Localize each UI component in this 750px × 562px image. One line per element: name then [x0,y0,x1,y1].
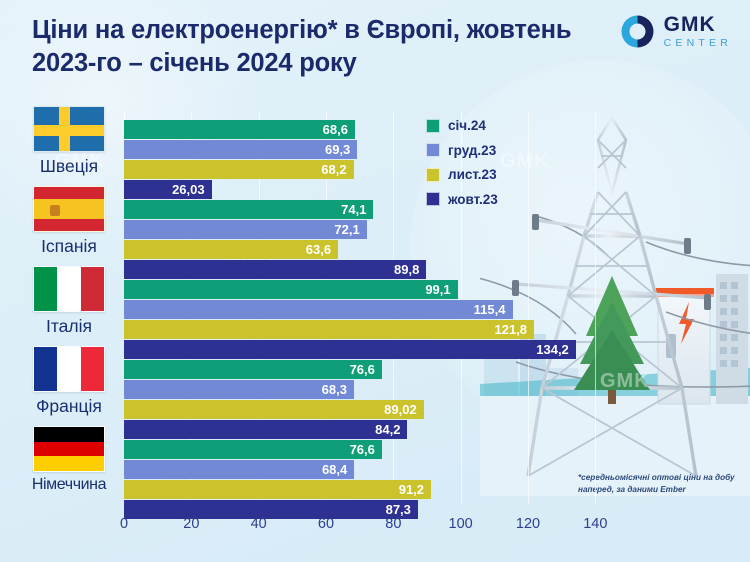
legend-swatch [426,119,440,133]
bar-row: 68,4 [124,460,629,479]
bar-Швеція-січ.24[interactable]: 68,6 [124,120,355,139]
bar-row: 74,1 [124,200,629,219]
bar-chart: 68,669,368,226,0374,172,163,689,899,1115… [0,104,750,544]
x-axis-tick-20: 20 [183,516,199,532]
bar-Іспанія-січ.24[interactable]: 74,1 [124,200,373,219]
bar-Швеція-груд.23[interactable]: 69,3 [124,140,357,159]
bar-row: 68,3 [124,380,629,399]
bar-row: 69,3 [124,140,629,159]
infographic-canvas: Ціни на електроенергію* в Європі, жовтен… [0,0,750,562]
bar-value-label: 89,8 [394,262,426,277]
bar-Франція-лист.23[interactable]: 89,02 [124,400,424,419]
x-axis-tick-120: 120 [516,516,540,532]
country-label: Італія [16,316,122,337]
bar-group-Німеччина: 76,668,491,287,3 [124,440,629,520]
x-axis-tick-140: 140 [583,516,607,532]
bar-value-label: 115,4 [474,302,513,317]
bar-Німеччина-груд.23[interactable]: 68,4 [124,460,354,479]
country-label: Франція [16,396,122,417]
bar-Німеччина-лист.23[interactable]: 91,2 [124,480,431,499]
bar-row: 99,1 [124,280,629,299]
bar-row: 89,02 [124,400,629,419]
bar-row: 26,03 [124,180,629,199]
bar-value-label: 87,3 [386,502,418,517]
bar-Італія-лист.23[interactable]: 121,8 [124,320,534,339]
bar-Швеція-лист.23[interactable]: 68,2 [124,160,354,179]
country-Німеччина: Німеччина [16,426,122,494]
logo-subtitle: CENTER [664,38,732,49]
bar-group-Франція: 76,668,389,0284,2 [124,360,629,440]
bar-value-label: 121,8 [495,322,535,337]
legend-label: лист.23 [448,167,497,182]
legend-swatch [426,143,440,157]
x-axis-tick-60: 60 [318,516,334,532]
bar-value-label: 74,1 [341,202,373,217]
bar-row: 68,2 [124,160,629,179]
bar-row: 121,8 [124,320,629,339]
legend-item-груд.23: груд.23 [426,143,498,158]
bar-row: 76,6 [124,360,629,379]
bar-value-label: 91,2 [399,482,431,497]
country-Швеція: Швеція [16,106,122,177]
country-Франція: Франція [16,346,122,417]
bar-group-Швеція: 68,669,368,226,03 [124,120,629,200]
bar-value-label: 68,6 [323,122,355,137]
bar-Франція-січ.24[interactable]: 76,6 [124,360,382,379]
chart-legend: січ.24груд.23лист.23жовт.23 [426,118,498,216]
bar-value-label: 76,6 [350,362,382,377]
bar-row: 72,1 [124,220,629,239]
legend-item-лист.23: лист.23 [426,167,498,182]
flag-spain-icon [33,186,105,232]
bar-row: 134,2 [124,340,629,359]
legend-label: січ.24 [448,118,486,133]
bar-row: 68,6 [124,120,629,139]
gmk-logo: GMK CENTER [620,14,732,49]
bar-value-label: 89,02 [384,402,424,417]
x-axis-tick-40: 40 [251,516,267,532]
country-label: Німеччина [16,476,122,494]
page-title: Ціни на електроенергію* в Європі, жовтен… [32,14,592,79]
bar-Швеція-жовт.23[interactable]: 26,03 [124,180,212,199]
bar-value-label: 84,2 [375,422,407,437]
bar-Іспанія-груд.23[interactable]: 72,1 [124,220,367,239]
bar-value-label: 63,6 [306,242,338,257]
bar-group-Італія: 99,1115,4121,8134,2 [124,280,629,360]
gmk-logo-text: GMK CENTER [664,14,732,49]
bar-row: 115,4 [124,300,629,319]
legend-item-січ.24: січ.24 [426,118,498,133]
country-label: Швеція [16,156,122,177]
x-axis-tick-0: 0 [120,516,128,532]
header: Ціни на електроенергію* в Європі, жовтен… [0,0,750,96]
bar-Німеччина-січ.24[interactable]: 76,6 [124,440,382,459]
bar-Італія-груд.23[interactable]: 115,4 [124,300,513,319]
bar-Франція-жовт.23[interactable]: 84,2 [124,420,407,439]
flag-italy-icon [33,266,105,312]
bar-row: 84,2 [124,420,629,439]
x-axis-tick-100: 100 [449,516,473,532]
bar-value-label: 68,2 [321,162,353,177]
bar-Іспанія-жовт.23[interactable]: 89,8 [124,260,426,279]
bar-value-label: 99,1 [425,282,457,297]
bar-value-label: 72,1 [334,222,366,237]
bar-value-label: 134,2 [536,342,576,357]
flag-germany-icon [33,426,105,472]
flag-france-icon [33,346,105,392]
bar-value-label: 68,3 [322,382,354,397]
bar-row: 63,6 [124,240,629,259]
legend-item-жовт.23: жовт.23 [426,192,498,207]
bar-row: 76,6 [124,440,629,459]
bar-group-Іспанія: 74,172,163,689,8 [124,200,629,280]
logo-name: GMK [664,14,732,35]
country-Іспанія: Іспанія [16,186,122,257]
plot-area: 68,669,368,226,0374,172,163,689,899,1115… [124,112,629,522]
legend-swatch [426,168,440,182]
bar-value-label: 26,03 [172,182,212,197]
x-axis-tick-80: 80 [385,516,401,532]
legend-label: груд.23 [448,143,496,158]
bar-row: 91,2 [124,480,629,499]
bar-value-label: 76,6 [350,442,382,457]
gmk-ring-icon [620,14,655,49]
bar-Іспанія-лист.23[interactable]: 63,6 [124,240,338,259]
bar-Італія-січ.24[interactable]: 99,1 [124,280,458,299]
flag-sweden-icon [33,106,105,152]
x-axis: 020406080100120140 [0,516,750,542]
legend-label: жовт.23 [448,192,498,207]
bar-row: 89,8 [124,260,629,279]
legend-swatch [426,192,440,206]
country-Італія: Італія [16,266,122,337]
bar-value-label: 68,4 [322,462,354,477]
bar-Франція-груд.23[interactable]: 68,3 [124,380,354,399]
bar-Італія-жовт.23[interactable]: 134,2 [124,340,576,359]
bar-value-label: 69,3 [325,142,357,157]
country-label: Іспанія [16,236,122,257]
